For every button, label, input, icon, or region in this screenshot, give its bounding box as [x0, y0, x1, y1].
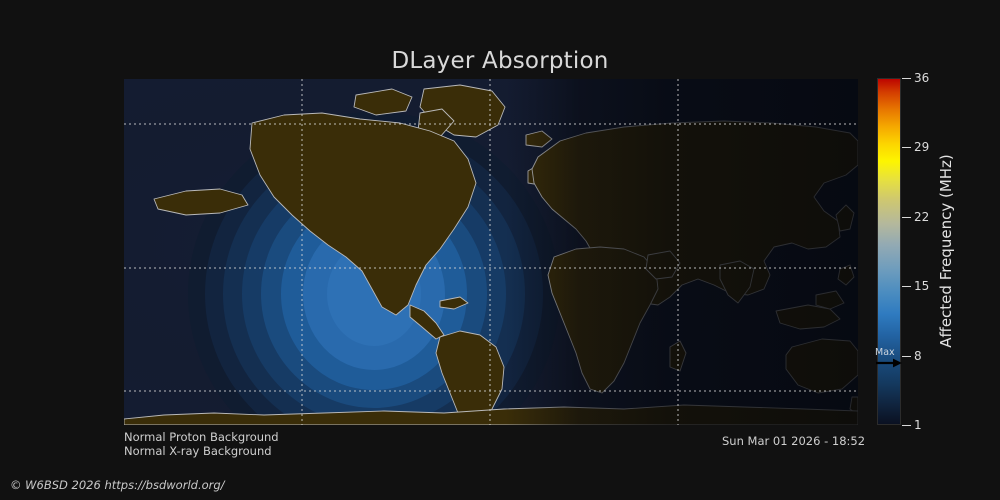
colorbar-tick-label-1: 1	[914, 418, 922, 432]
colorbar-tick-label-8: 8	[914, 349, 922, 363]
timestamp: Sun Mar 01 2026 - 18:52	[722, 434, 865, 448]
dlayer-absorption-page: DLayer Absorption	[0, 0, 1000, 500]
colorbar-tick-22	[902, 217, 911, 218]
colorbar-max-label: Max	[875, 347, 895, 358]
colorbar-tick-label-15: 15	[914, 279, 929, 293]
colorbar	[877, 78, 901, 425]
colorbar-tick-29	[902, 147, 911, 148]
colorbar-tick-15	[902, 286, 911, 287]
colorbar-max-arrow-icon	[875, 358, 903, 368]
colorbar-tick-1	[902, 425, 911, 426]
page-title: DLayer Absorption	[0, 48, 1000, 74]
proton-background-status: Normal Proton Background	[124, 430, 279, 444]
colorbar-tick-label-36: 36	[914, 71, 929, 85]
colorbar-frame	[877, 78, 901, 425]
map-canvas	[124, 79, 858, 425]
xray-background-status: Normal X-ray Background	[124, 444, 272, 458]
colorbar-tick-36	[902, 78, 911, 79]
colorbar-tick-8	[902, 356, 911, 357]
colorbar-tick-label-22: 22	[914, 210, 929, 224]
colorbar-axis-label: Affected Frequency (MHz)	[935, 77, 957, 425]
colorbar-tick-label-29: 29	[914, 140, 929, 154]
credit-line: © W6BSD 2026 https://bsdworld.org/	[10, 478, 225, 492]
terminator-shading	[124, 79, 858, 425]
world-map[interactable]	[124, 79, 858, 425]
